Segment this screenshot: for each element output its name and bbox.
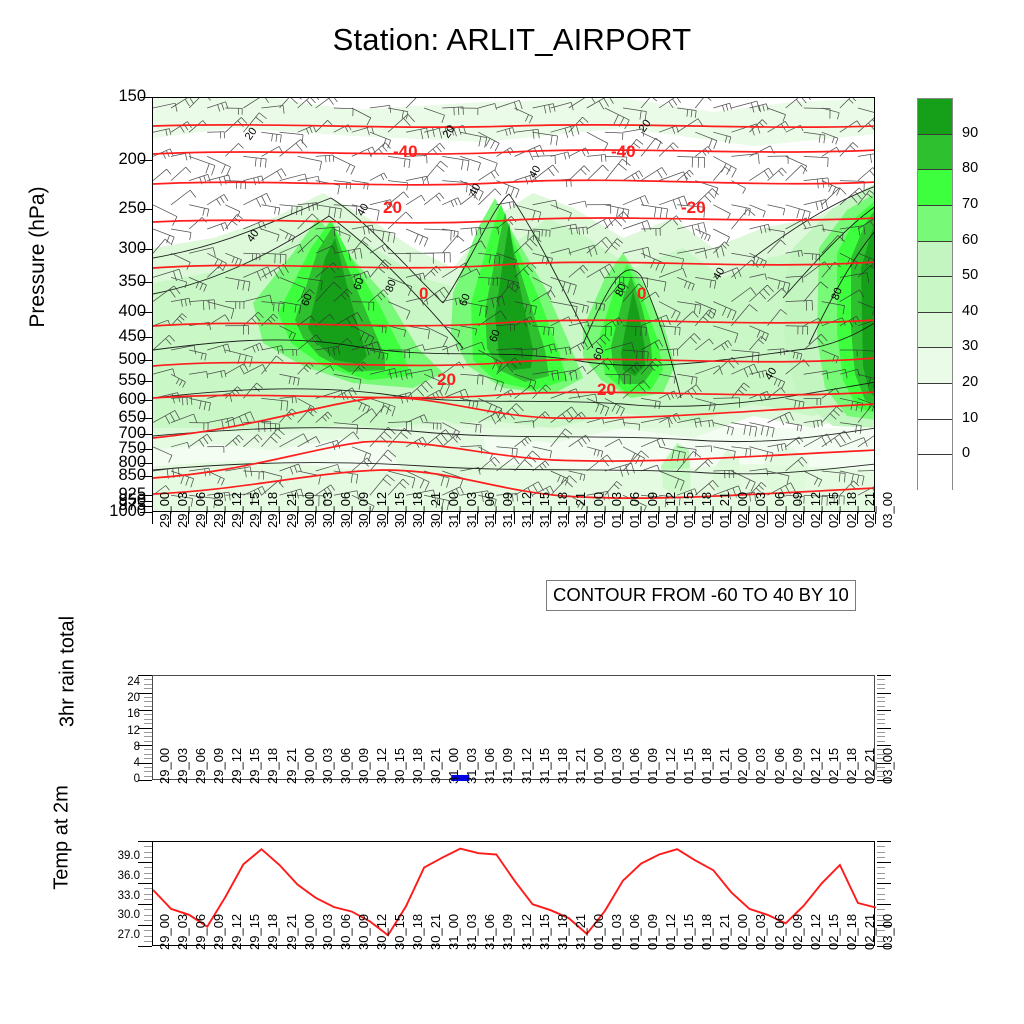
time-tick-02_15: 02_15	[826, 748, 841, 784]
time-tick-31_18: 31_18	[555, 492, 570, 528]
time-tick-30_09: 30_09	[356, 914, 371, 950]
time-tick-30_12: 30_12	[374, 748, 389, 784]
time-tick-29_03: 29_03	[175, 914, 190, 950]
temp-y-tickmarks	[136, 841, 152, 946]
major-tickmark	[138, 780, 152, 781]
pressure-tickmark	[140, 312, 152, 313]
time-tick-30_06: 30_06	[338, 914, 353, 950]
pressure-tickmark	[140, 463, 152, 464]
time-tick-30_00: 30_00	[302, 914, 317, 950]
time-tick-02_09: 02_09	[790, 492, 805, 528]
minor-tickmark	[144, 936, 152, 937]
pressure-tickmark	[140, 360, 152, 361]
colorbar-label-30: 30	[962, 338, 978, 354]
minor-tickmark	[877, 688, 885, 689]
temp-x-axis-labels: 29_0029_0329_0629_0929_1229_1529_1829_21…	[152, 950, 875, 1010]
minor-tickmark	[144, 852, 152, 853]
time-tick-31_12: 31_12	[519, 492, 534, 528]
minor-tickmark	[144, 771, 152, 772]
minor-tickmark	[144, 719, 152, 720]
minor-tickmark	[144, 915, 152, 916]
time-tick-29_15: 29_15	[247, 492, 262, 528]
time-tick-30_18: 30_18	[410, 914, 425, 950]
contour-label-red-20-far: 20	[597, 380, 616, 400]
minor-tickmark	[877, 697, 885, 698]
minor-tickmark	[144, 679, 152, 680]
time-tick-03_00: 03_00	[880, 748, 895, 784]
time-tick-31_06: 31_06	[482, 492, 497, 528]
time-tick-29_15: 29_15	[247, 914, 262, 950]
minor-tickmark	[877, 846, 885, 847]
minor-tickmark	[877, 741, 885, 742]
contour-label-red-zero-right: 0	[637, 284, 646, 304]
minor-tickmark	[877, 679, 885, 680]
time-tick-30_03: 30_03	[320, 748, 335, 784]
minor-tickmark	[144, 920, 152, 921]
contour-label-red-20-mid: 20	[437, 370, 456, 390]
time-tick-29_15: 29_15	[247, 748, 262, 784]
time-tick-01_09: 01_09	[645, 748, 660, 784]
time-tick-29_18: 29_18	[265, 492, 280, 528]
colorbar-label-0: 0	[962, 445, 970, 461]
contour-note: CONTOUR FROM -60 TO 40 BY 10	[546, 580, 856, 611]
minor-tickmark	[144, 701, 152, 702]
time-tick-02_15: 02_15	[826, 492, 841, 528]
temp-y-axis-title: Temp at 2m	[51, 768, 74, 908]
time-tick-30_12: 30_12	[374, 914, 389, 950]
page-title: Station: ARLIT_AIRPORT	[0, 22, 1024, 58]
minor-tickmark	[144, 732, 152, 733]
major-tickmark	[138, 728, 152, 729]
colorbar-segment-3	[918, 206, 952, 242]
time-tick-31_21: 31_21	[573, 748, 588, 784]
time-tick-31_18: 31_18	[555, 748, 570, 784]
time-tick-29_21: 29_21	[284, 492, 299, 528]
time-tick-02_21: 02_21	[862, 914, 877, 950]
time-tick-01_21: 01_21	[717, 492, 732, 528]
time-tick-03_00: 03_00	[880, 492, 895, 528]
time-tick-31_00: 31_00	[446, 748, 461, 784]
time-tick-29_21: 29_21	[284, 748, 299, 784]
minor-tickmark	[144, 758, 152, 759]
time-tick-01_03: 01_03	[609, 914, 624, 950]
time-tick-31_06: 31_06	[482, 914, 497, 950]
time-tick-29_18: 29_18	[265, 748, 280, 784]
pressure-tickmark	[140, 418, 152, 419]
colorbar-label-70: 70	[962, 196, 978, 212]
time-tick-31_12: 31_12	[519, 748, 534, 784]
major-tickmark	[877, 728, 891, 729]
minor-tickmark	[144, 867, 152, 868]
contour-label-red-minus20-right: -20	[681, 198, 706, 218]
minor-tickmark	[877, 888, 885, 889]
pressure-tickmark	[140, 400, 152, 401]
minor-tickmark	[877, 736, 885, 737]
time-tick-29_09: 29_09	[211, 492, 226, 528]
time-tick-29_21: 29_21	[284, 914, 299, 950]
pressure-tickmark	[140, 160, 152, 161]
time-tick-01_21: 01_21	[717, 748, 732, 784]
contour-label-red-minus40-left: -40	[393, 142, 418, 162]
major-tickmark	[877, 693, 891, 694]
colorbar-segment-4	[918, 242, 952, 278]
rain-y-tickmarks	[136, 675, 152, 780]
time-tick-30_12: 30_12	[374, 492, 389, 528]
time-tick-29_00: 29_00	[157, 748, 172, 784]
time-height-cross-section[interactable]: -40 -40 20 -20 0 0 20 20 20 20 20 40 40 …	[152, 97, 875, 512]
time-tick-30_00: 30_00	[302, 492, 317, 528]
minor-tickmark	[144, 767, 152, 768]
time-tick-01_06: 01_06	[627, 748, 642, 784]
time-tick-02_12: 02_12	[808, 748, 823, 784]
temp-y-axis-labels: 39.036.033.030.027.0	[84, 834, 140, 954]
major-tickmark	[877, 675, 891, 676]
time-tick-31_12: 31_12	[519, 914, 534, 950]
colorbar-segment-1	[918, 135, 952, 171]
minor-tickmark	[877, 873, 885, 874]
major-tickmark	[138, 946, 152, 947]
pressure-tickmark	[140, 97, 152, 98]
time-tick-01_21: 01_21	[717, 914, 732, 950]
minor-tickmark	[144, 736, 152, 737]
time-tick-01_00: 01_00	[591, 914, 606, 950]
time-tick-02_00: 02_00	[735, 748, 750, 784]
time-tick-29_09: 29_09	[211, 748, 226, 784]
colorbar-label-60: 60	[962, 232, 978, 248]
time-tick-31_09: 31_09	[500, 492, 515, 528]
time-tick-30_18: 30_18	[410, 748, 425, 784]
minor-tickmark	[144, 941, 152, 942]
time-tick-29_09: 29_09	[211, 914, 226, 950]
x-tickmark	[152, 512, 153, 524]
minor-tickmark	[144, 888, 152, 889]
colorbar-label-40: 40	[962, 303, 978, 319]
major-tickmark	[138, 841, 152, 842]
major-tickmark	[877, 745, 891, 746]
humidity-colorbar[interactable]	[917, 98, 953, 490]
time-tick-02_12: 02_12	[808, 914, 823, 950]
pressure-tickmark	[140, 512, 152, 513]
time-tick-02_00: 02_00	[735, 914, 750, 950]
time-tick-29_06: 29_06	[193, 748, 208, 784]
minor-tickmark	[877, 867, 885, 868]
major-tickmark	[138, 904, 152, 905]
time-tick-01_18: 01_18	[699, 748, 714, 784]
minor-tickmark	[144, 894, 152, 895]
minor-tickmark	[877, 894, 885, 895]
time-tick-02_03: 02_03	[753, 748, 768, 784]
time-tick-30_03: 30_03	[320, 492, 335, 528]
minor-tickmark	[877, 878, 885, 879]
time-tick-31_03: 31_03	[464, 914, 479, 950]
pressure-tickmark	[140, 249, 152, 250]
time-tick-30_09: 30_09	[356, 748, 371, 784]
time-tick-30_15: 30_15	[392, 914, 407, 950]
time-tick-31_15: 31_15	[537, 748, 552, 784]
time-tick-30_15: 30_15	[392, 748, 407, 784]
main-y-axis-labels: 1502002503003504004505005506006507007508…	[62, 89, 146, 514]
minor-tickmark	[144, 688, 152, 689]
minor-tickmark	[877, 857, 885, 858]
time-tick-01_09: 01_09	[645, 914, 660, 950]
minor-tickmark	[877, 899, 885, 900]
time-tick-29_12: 29_12	[229, 914, 244, 950]
time-tick-03_00: 03_00	[880, 914, 895, 950]
minor-tickmark	[877, 684, 885, 685]
time-tick-31_15: 31_15	[537, 914, 552, 950]
time-tick-30_18: 30_18	[410, 492, 425, 528]
rain-y-axis-labels: 24201612840	[96, 668, 140, 788]
colorbar-segment-10	[918, 455, 952, 491]
colorbar-segment-7	[918, 348, 952, 384]
time-tick-29_18: 29_18	[265, 914, 280, 950]
time-tick-29_03: 29_03	[175, 748, 190, 784]
colorbar-label-10: 10	[962, 410, 978, 426]
minor-tickmark	[877, 701, 885, 702]
time-tick-30_00: 30_00	[302, 748, 317, 784]
time-tick-02_18: 02_18	[844, 914, 859, 950]
time-tick-02_21: 02_21	[862, 492, 877, 528]
minor-tickmark	[144, 930, 152, 931]
minor-tickmark	[877, 714, 885, 715]
minor-tickmark	[877, 719, 885, 720]
time-tick-29_03: 29_03	[175, 492, 190, 528]
time-tick-02_15: 02_15	[826, 914, 841, 950]
minor-tickmark	[144, 684, 152, 685]
time-tick-31_00: 31_00	[446, 914, 461, 950]
pressure-tickmark	[140, 337, 152, 338]
pressure-tickmark	[140, 501, 152, 502]
minor-tickmark	[144, 878, 152, 879]
minor-tickmark	[877, 909, 885, 910]
time-tick-02_09: 02_09	[790, 914, 805, 950]
rain-x-axis-labels: 29_0029_0329_0629_0929_1229_1529_1829_21…	[152, 784, 875, 844]
minor-tickmark	[144, 776, 152, 777]
time-height-plot-svg	[153, 98, 875, 512]
time-tick-30_03: 30_03	[320, 914, 335, 950]
colorbar-segment-8	[918, 384, 952, 420]
time-tick-29_06: 29_06	[193, 914, 208, 950]
colorbar-segment-5	[918, 277, 952, 313]
time-tick-29_12: 29_12	[229, 748, 244, 784]
time-tick-01_15: 01_15	[681, 914, 696, 950]
time-tick-02_06: 02_06	[772, 748, 787, 784]
time-tick-02_21: 02_21	[862, 748, 877, 784]
time-tick-31_03: 31_03	[464, 492, 479, 528]
minor-tickmark	[144, 899, 152, 900]
major-tickmark	[877, 883, 891, 884]
minor-tickmark	[144, 749, 152, 750]
colorbar-label-90: 90	[962, 125, 978, 141]
time-tick-02_09: 02_09	[790, 748, 805, 784]
major-tickmark	[138, 710, 152, 711]
major-tickmark	[877, 862, 891, 863]
time-tick-31_15: 31_15	[537, 492, 552, 528]
time-tick-30_21: 30_21	[428, 492, 443, 528]
time-tick-01_09: 01_09	[645, 492, 660, 528]
minor-tickmark	[144, 741, 152, 742]
minor-tickmark	[144, 723, 152, 724]
major-tickmark	[138, 693, 152, 694]
pressure-tickmark	[140, 282, 152, 283]
time-tick-01_00: 01_00	[591, 748, 606, 784]
pressure-tickmark	[140, 495, 152, 496]
major-tickmark	[138, 745, 152, 746]
time-tick-01_06: 01_06	[627, 914, 642, 950]
time-tick-30_15: 30_15	[392, 492, 407, 528]
time-tick-01_12: 01_12	[663, 748, 678, 784]
main-x-axis-labels: 29_0029_0329_0629_0929_1229_1529_1829_21…	[152, 528, 875, 588]
time-tick-01_12: 01_12	[663, 914, 678, 950]
pressure-tickmark	[140, 506, 152, 507]
time-tick-29_06: 29_06	[193, 492, 208, 528]
colorbar-segment-9	[918, 420, 952, 456]
time-tick-01_12: 01_12	[663, 492, 678, 528]
major-tickmark	[138, 763, 152, 764]
major-tickmark	[138, 925, 152, 926]
pressure-tickmark	[140, 381, 152, 382]
minor-tickmark	[877, 723, 885, 724]
time-tick-02_03: 02_03	[753, 914, 768, 950]
time-tick-01_03: 01_03	[609, 492, 624, 528]
minor-tickmark	[144, 857, 152, 858]
time-tick-31_21: 31_21	[573, 492, 588, 528]
time-tick-01_03: 01_03	[609, 748, 624, 784]
time-tick-01_15: 01_15	[681, 492, 696, 528]
contour-label-red-zero-left: 0	[419, 284, 428, 304]
time-tick-29_12: 29_12	[229, 492, 244, 528]
contour-label-red-minus40-right: -40	[611, 142, 636, 162]
contour-label-red-20-left: 20	[383, 198, 402, 218]
minor-tickmark	[144, 714, 152, 715]
time-tick-01_06: 01_06	[627, 492, 642, 528]
time-tick-31_09: 31_09	[500, 748, 515, 784]
colorbar-segment-0	[918, 99, 952, 135]
time-tick-30_06: 30_06	[338, 492, 353, 528]
minor-tickmark	[877, 706, 885, 707]
major-tickmark	[877, 841, 891, 842]
pressure-tickmark	[140, 209, 152, 210]
colorbar-label-20: 20	[962, 374, 978, 390]
major-tickmark	[138, 862, 152, 863]
minor-tickmark	[144, 873, 152, 874]
time-tick-02_06: 02_06	[772, 492, 787, 528]
pressure-tickmark	[140, 434, 152, 435]
minor-tickmark	[144, 909, 152, 910]
time-tick-02_00: 02_00	[735, 492, 750, 528]
time-tick-29_00: 29_00	[157, 914, 172, 950]
time-tick-31_03: 31_03	[464, 748, 479, 784]
main-y-axis-title: Pressure (hPa)	[26, 157, 50, 357]
time-tick-29_00: 29_00	[157, 492, 172, 528]
time-tick-31_09: 31_09	[500, 914, 515, 950]
pressure-tickmark	[140, 476, 152, 477]
minor-tickmark	[877, 732, 885, 733]
time-tick-01_18: 01_18	[699, 914, 714, 950]
colorbar-segment-2	[918, 170, 952, 206]
time-tick-01_15: 01_15	[681, 748, 696, 784]
time-tick-02_06: 02_06	[772, 914, 787, 950]
time-tick-31_06: 31_06	[482, 748, 497, 784]
time-tick-02_03: 02_03	[753, 492, 768, 528]
minor-tickmark	[144, 706, 152, 707]
major-tickmark	[877, 904, 891, 905]
major-tickmark	[877, 710, 891, 711]
minor-tickmark	[144, 697, 152, 698]
time-tick-30_21: 30_21	[428, 748, 443, 784]
colorbar-label-50: 50	[962, 267, 978, 283]
rain-y-axis-title: 3hr rain total	[57, 602, 80, 742]
time-tick-01_18: 01_18	[699, 492, 714, 528]
time-tick-30_21: 30_21	[428, 914, 443, 950]
major-tickmark	[138, 675, 152, 676]
time-tick-31_21: 31_21	[573, 914, 588, 950]
major-tickmark	[138, 883, 152, 884]
time-tick-02_12: 02_12	[808, 492, 823, 528]
colorbar-segment-6	[918, 313, 952, 349]
time-tick-30_06: 30_06	[338, 748, 353, 784]
time-tick-30_09: 30_09	[356, 492, 371, 528]
time-tick-31_18: 31_18	[555, 914, 570, 950]
minor-tickmark	[877, 852, 885, 853]
colorbar-label-80: 80	[962, 160, 978, 176]
minor-tickmark	[144, 846, 152, 847]
pressure-tickmark	[140, 449, 152, 450]
time-tick-02_18: 02_18	[844, 492, 859, 528]
time-tick-31_00: 31_00	[446, 492, 461, 528]
time-tick-02_18: 02_18	[844, 748, 859, 784]
time-tick-01_00: 01_00	[591, 492, 606, 528]
minor-tickmark	[144, 754, 152, 755]
